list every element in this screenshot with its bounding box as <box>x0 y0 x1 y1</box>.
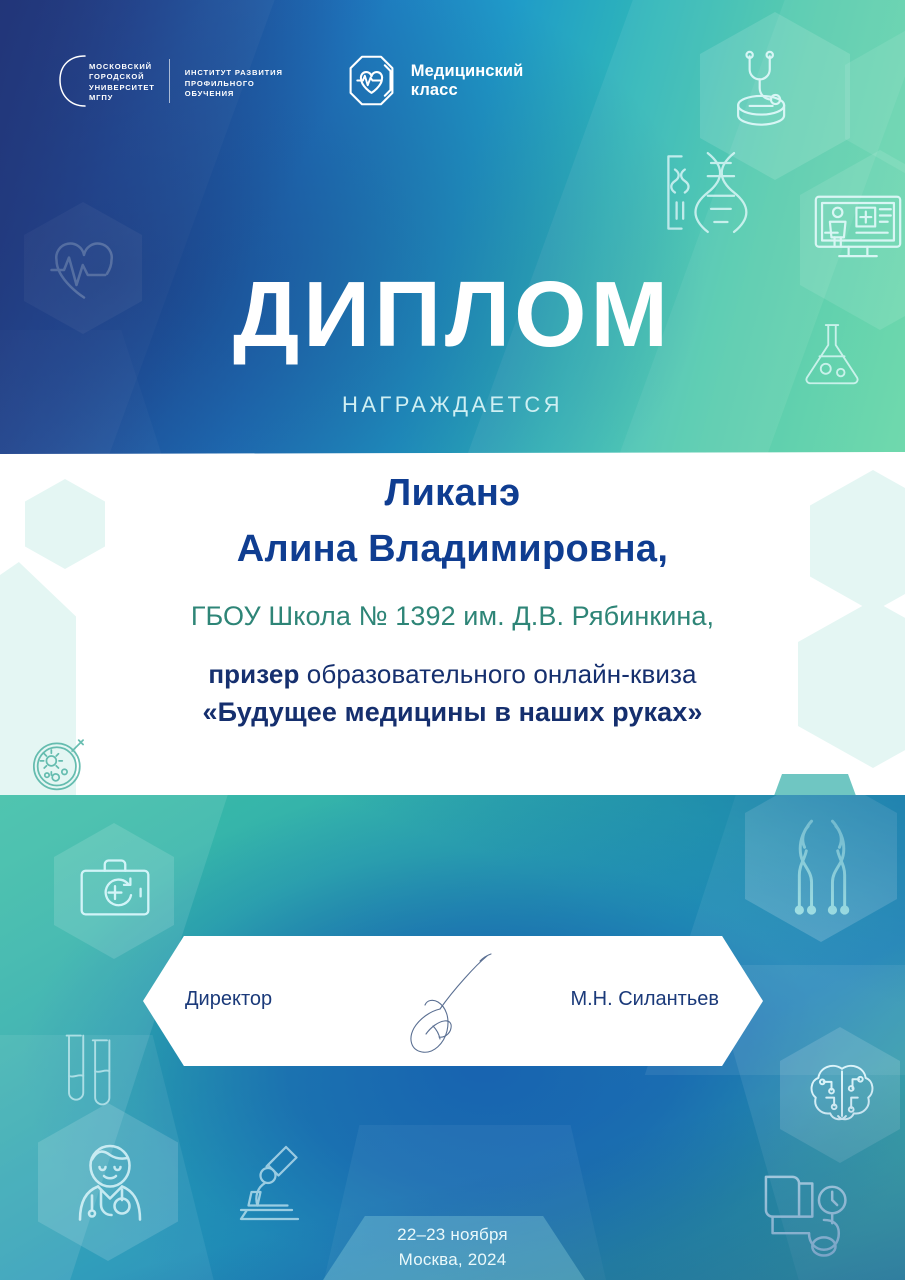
recipient-school: ГБОУ Школа № 1392 им. Д.В. Рябинкина, <box>0 601 905 632</box>
medclass-logo: Медицинский класс <box>343 52 524 109</box>
certificate: МОСКОВСКИЙ ГОРОДСКОЙ УНИВЕРСИТЕТ МГПУ ИН… <box>0 0 905 1280</box>
footer-date-place: 22–23 ноября Москва, 2024 <box>0 1222 905 1272</box>
page-subtitle: НАГРАЖДАЕТСЯ <box>0 392 905 418</box>
irpo-logo-text: ИНСТИТУТ РАЗВИТИЯ ПРОФИЛЬНОГО ОБУЧЕНИЯ <box>185 61 283 100</box>
brain-circuit-icon <box>800 1053 884 1137</box>
award-line: призер образовательного онлайн-квиза <box>0 659 905 690</box>
doctor-icon <box>62 1129 158 1235</box>
award-rank: призер <box>208 659 299 689</box>
hexagon-decor <box>54 823 174 959</box>
mgpu-logo-text: МОСКОВСКИЙ ГОРОДСКОЙ УНИВЕРСИТЕТ МГПУ <box>89 53 155 104</box>
patient-monitor-icon <box>808 178 905 278</box>
facet-shape <box>552 0 905 455</box>
medclass-logo-text: Медицинский класс <box>411 62 524 100</box>
microscope-icon <box>220 1135 316 1231</box>
petri-dish-icon <box>24 727 94 797</box>
logo-row: МОСКОВСКИЙ ГОРОДСКОЙ УНИВЕРСИТЕТ МГПУ ИН… <box>52 52 523 109</box>
hexagon-decor <box>745 795 897 942</box>
hexagon-decor <box>845 28 905 176</box>
caring-hands-icon <box>766 795 878 917</box>
signature-role: Директор <box>185 988 272 1011</box>
header-band: МОСКОВСКИЙ ГОРОДСКОЙ УНИВЕРСИТЕТ МГПУ ИН… <box>0 0 905 455</box>
test-tubes-icon <box>50 1025 126 1115</box>
handwritten-signature-icon <box>367 950 527 1060</box>
dna-icon <box>652 140 757 245</box>
award-context: образовательного онлайн-квиза <box>299 659 696 689</box>
signature-block: Директор М.Н. Силантьев <box>143 936 763 1066</box>
medclass-hex-heart-icon <box>343 52 400 109</box>
hexagon-decor <box>780 1027 900 1163</box>
page-title: ДИПЛОМ <box>0 268 905 361</box>
logo-divider <box>169 59 170 103</box>
facet-shape <box>760 774 870 797</box>
pills-stethoscope-icon <box>718 42 810 134</box>
event-title: «Будущее медицины в наших руках» <box>0 697 905 728</box>
recipient-given-name: Алина Владимировна, <box>0 528 905 571</box>
signature-name: М.Н. Силантьев <box>570 988 719 1011</box>
hexagon-decor <box>700 12 850 180</box>
recipient-surname: Ликанэ <box>0 472 905 515</box>
mgpu-logo: МОСКОВСКИЙ ГОРОДСКОЙ УНИВЕРСИТЕТ МГПУ <box>52 53 155 109</box>
first-aid-kit-icon <box>74 849 156 931</box>
mgpu-arc-icon <box>52 53 86 109</box>
